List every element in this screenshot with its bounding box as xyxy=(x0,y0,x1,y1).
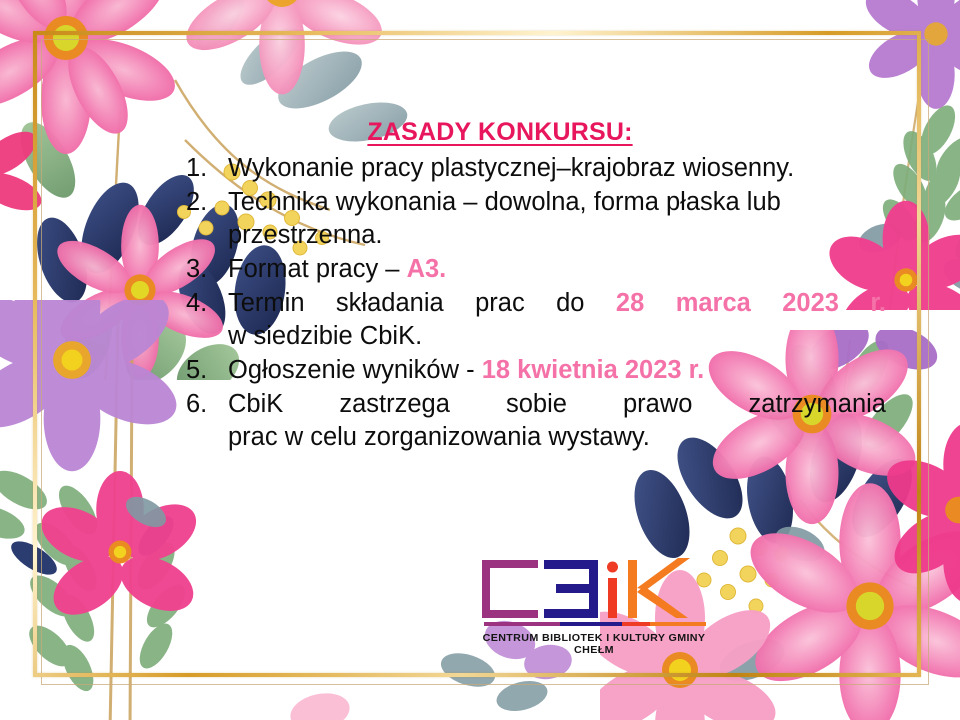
list-item-line: Format pracy – A3. xyxy=(228,253,886,286)
list-item-number: 2. xyxy=(186,186,220,219)
logo-color-bar xyxy=(484,622,706,626)
list-item-line: Technika wykonania – dowolna, forma płas… xyxy=(228,186,886,219)
rules-content: ZASADY KONKURSU: 1. Wykonanie pracy plas… xyxy=(186,118,886,455)
text-segment: Wykonanie pracy plastycznej–krajobraz wi… xyxy=(228,154,794,182)
list-item-line: Wykonanie pracy plastycznej–krajobraz wi… xyxy=(228,152,886,185)
list-item-number: 3. xyxy=(186,253,220,286)
list-item-line: Termin składania prac do 28 marca 2023 r… xyxy=(228,287,886,320)
cbik-logo-mark xyxy=(478,552,710,632)
logo-letter-c xyxy=(482,560,538,618)
text-segment: Ogłoszenie wyników - xyxy=(228,356,482,384)
list-item-number: 4. xyxy=(186,287,220,320)
text-segment: Format pracy – xyxy=(228,255,407,283)
list-item-line: CbiK zastrzega sobie prawo zatrzymania xyxy=(228,388,886,421)
list-item-number: 5. xyxy=(186,354,220,387)
list-item: 5. Ogłoszenie wyników - 18 kwietnia 2023… xyxy=(186,354,886,387)
text-segment: Termin składania prac do xyxy=(228,289,616,317)
text-segment: Technika wykonania – dowolna, forma płas… xyxy=(228,188,781,216)
text-segment-accent: 28 marca 2023 r. xyxy=(616,289,886,317)
list-item: 1. Wykonanie pracy plastycznej–krajobraz… xyxy=(186,152,886,185)
page-title: ZASADY KONKURSU: xyxy=(186,118,886,147)
list-item-line: Ogłoszenie wyników - 18 kwietnia 2023 r. xyxy=(228,354,886,387)
text-segment-accent: A3. xyxy=(407,255,447,283)
rules-list: 1. Wykonanie pracy plastycznej–krajobraz… xyxy=(186,152,886,454)
list-item-line: prac w celu zorganizowania wystawy. xyxy=(228,421,886,454)
list-item: 2. Technika wykonania – dowolna, forma p… xyxy=(186,186,886,252)
text-segment-accent: 18 kwietnia 2023 r. xyxy=(482,356,705,384)
list-item-number: 1. xyxy=(186,152,220,185)
list-item-line: w siedzibie CbiK. xyxy=(228,320,886,353)
logo-letter-i xyxy=(607,562,618,619)
text-segment: prac w celu zorganizowania wystawy. xyxy=(228,423,650,451)
list-item-line: przestrzenna. xyxy=(228,219,886,252)
logo-letter-k xyxy=(628,558,690,618)
text-segment: CbiK zastrzega sobie prawo zatrzymania xyxy=(228,390,886,418)
poster-canvas: ZASADY KONKURSU: 1. Wykonanie pracy plas… xyxy=(0,0,960,720)
list-item-number: 6. xyxy=(186,388,220,421)
logo-letter-b xyxy=(544,560,598,618)
text-segment: w siedzibie CbiK. xyxy=(228,322,422,350)
list-item: 3. Format pracy – A3. xyxy=(186,253,886,286)
list-item: 4. Termin składania prac do 28 marca 202… xyxy=(186,287,886,353)
list-item: 6. CbiK zastrzega sobie prawo zatrzymani… xyxy=(186,388,886,454)
text-segment: przestrzenna. xyxy=(228,221,383,249)
logo-tagline: CENTRUM BIBLIOTEK I KULTURY GMINY CHEŁM xyxy=(476,632,713,656)
cbik-logo: CENTRUM BIBLIOTEK I KULTURY GMINY CHEŁM xyxy=(478,552,710,654)
